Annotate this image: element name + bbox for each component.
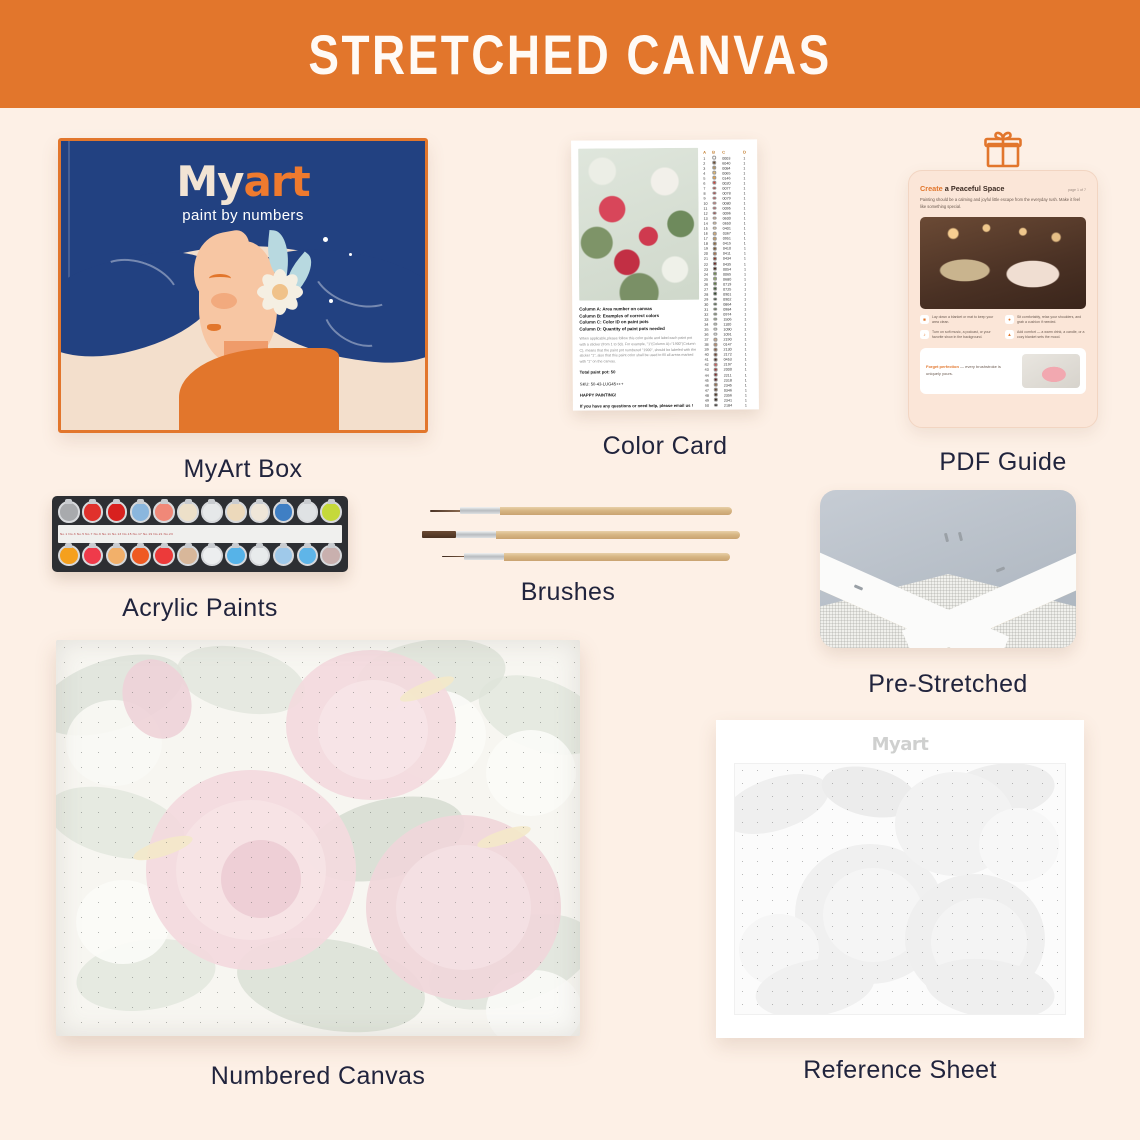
cell-color-id: 0410 bbox=[723, 247, 744, 251]
cell-quantity: 1 bbox=[743, 186, 751, 190]
cell-area-number: 12 bbox=[704, 212, 713, 216]
color-table-row: 3801471 bbox=[704, 342, 752, 347]
cell-area-number: 33 bbox=[704, 318, 713, 322]
cell-color-id: 0974 bbox=[723, 312, 744, 316]
cell-color-swatch bbox=[713, 277, 723, 282]
product-numbered-canvas[interactable]: Numbered Canvas bbox=[56, 640, 580, 1091]
color-card-table: A B C D 10003126040130084140065150146160… bbox=[703, 147, 753, 401]
pdf-page-label: page 1 of 7 bbox=[1068, 188, 1086, 192]
color-table-row: 1306001 bbox=[704, 216, 752, 221]
cell-quantity: 1 bbox=[743, 161, 751, 165]
cell-color-id: 0951 bbox=[723, 237, 744, 241]
cell-color-id: 0680 bbox=[723, 277, 744, 281]
pdf-footer-thumbnail bbox=[1022, 354, 1080, 388]
brush-handle bbox=[504, 553, 730, 561]
color-table-row: 3610911 bbox=[704, 332, 752, 337]
music-icon: ♪ bbox=[920, 330, 929, 339]
cell-color-swatch bbox=[712, 156, 722, 161]
cell-color-swatch bbox=[713, 267, 723, 272]
cell-color-id: 1100 bbox=[723, 323, 744, 327]
cell-color-id: 0435 bbox=[723, 262, 744, 266]
pdf-footer-callout: Forget perfection — every brushstroke is… bbox=[920, 348, 1086, 394]
color-table-row: 2400651 bbox=[704, 271, 752, 276]
cell-area-number: 13 bbox=[704, 217, 713, 221]
staple bbox=[958, 532, 963, 541]
cell-area-number: 7 bbox=[703, 186, 712, 190]
cell-quantity: 1 bbox=[745, 398, 753, 402]
cell-area-number: 2 bbox=[703, 161, 712, 165]
color-card-left-column: Column A: Area number on canvas Column B… bbox=[578, 148, 700, 403]
cell-area-number: 50 bbox=[705, 403, 714, 407]
paint-pot[interactable] bbox=[106, 545, 128, 567]
cell-area-number: 27 bbox=[704, 287, 713, 291]
cell-area-number: 1 bbox=[703, 156, 712, 160]
cell-area-number: 5 bbox=[703, 176, 712, 180]
paint-pot[interactable] bbox=[58, 545, 80, 567]
cell-color-swatch bbox=[713, 287, 723, 292]
color-table-row: 4823561 bbox=[705, 393, 753, 398]
cell-quantity: 1 bbox=[743, 156, 751, 160]
cell-area-number: 4 bbox=[703, 171, 712, 175]
cell-color-swatch bbox=[713, 322, 723, 327]
paint-pot[interactable] bbox=[82, 501, 104, 523]
paint-pot[interactable] bbox=[225, 501, 247, 523]
pdf-tip: ● Sit comfortably, relax your shoulders,… bbox=[1005, 315, 1086, 326]
broom-icon: ■ bbox=[920, 315, 929, 324]
cell-color-id: 0077 bbox=[722, 186, 743, 190]
pdf-footer-text: Forget perfection — every brushstroke is… bbox=[926, 364, 1016, 377]
cell-color-id: 2341 bbox=[724, 398, 745, 402]
cell-area-number: 8 bbox=[703, 192, 712, 196]
gift-icon bbox=[908, 128, 1098, 170]
cell-color-swatch bbox=[714, 393, 724, 398]
color-table-row: 5021841 bbox=[705, 403, 753, 408]
cell-color-id: 0346 bbox=[724, 388, 745, 392]
cell-quantity: 1 bbox=[744, 227, 752, 231]
cell-quantity: 1 bbox=[745, 353, 753, 357]
cell-color-id: 0080 bbox=[722, 201, 743, 205]
caption-color-card: Color Card bbox=[572, 432, 758, 461]
product-pre-stretched[interactable]: Pre-Stretched bbox=[820, 490, 1076, 699]
cell-color-swatch bbox=[713, 252, 723, 257]
cell-color-id: 0054 bbox=[723, 267, 744, 271]
cell-area-number: 19 bbox=[704, 247, 713, 251]
color-table-row: 4221971 bbox=[705, 362, 753, 367]
cell-quantity: 1 bbox=[743, 201, 751, 205]
cell-color-swatch bbox=[714, 378, 724, 383]
cell-color-id: 0096 bbox=[723, 211, 744, 215]
cell-area-number: 49 bbox=[705, 398, 714, 402]
cell-color-id: 0146 bbox=[722, 176, 743, 180]
cell-color-swatch bbox=[712, 186, 722, 191]
color-table-row: 1504011 bbox=[704, 226, 752, 231]
cell-quantity: 1 bbox=[745, 393, 753, 397]
canvas-number-markers bbox=[56, 640, 580, 1036]
cell-area-number: 18 bbox=[704, 242, 713, 246]
drink-icon: ▲ bbox=[1005, 330, 1014, 339]
cell-color-swatch bbox=[713, 343, 723, 348]
color-table-row: 2204351 bbox=[704, 261, 752, 266]
cell-color-swatch bbox=[713, 216, 723, 221]
product-myart-box[interactable]: Myart paint by numbers MyArt Box bbox=[58, 138, 428, 484]
cell-area-number: 38 bbox=[704, 343, 713, 347]
cell-color-swatch bbox=[714, 348, 724, 353]
cell-color-swatch bbox=[712, 176, 722, 181]
cell-color-swatch bbox=[714, 363, 724, 368]
brush-handle bbox=[496, 531, 740, 539]
cell-area-number: 39 bbox=[705, 348, 714, 352]
color-table-row: 3209741 bbox=[704, 312, 752, 317]
pdf-tip: ■ Lay down a blanket or mat to keep your… bbox=[920, 315, 1001, 326]
reference-sheet-artwork bbox=[734, 763, 1066, 1015]
cell-area-number: 37 bbox=[704, 338, 713, 342]
cell-color-id: 2000 bbox=[724, 368, 745, 372]
caption-numbered-canvas: Numbered Canvas bbox=[56, 1062, 580, 1091]
pdf-tip-text: Lay down a blanket or mat to keep your a… bbox=[932, 315, 1001, 326]
cell-quantity: 1 bbox=[744, 322, 752, 326]
pre-stretched-image bbox=[820, 490, 1076, 648]
color-table-row: 4703461 bbox=[705, 388, 753, 393]
cell-color-id: 6040 bbox=[722, 161, 743, 165]
cell-color-swatch bbox=[712, 166, 722, 171]
caption-pre-stretched: Pre-Stretched bbox=[820, 670, 1076, 699]
color-table-row: 4422111 bbox=[705, 372, 753, 377]
paint-pot[interactable] bbox=[130, 501, 152, 523]
color-table-row: 4923411 bbox=[705, 398, 753, 403]
th-a: A bbox=[703, 150, 712, 155]
cell-area-number: 26 bbox=[704, 282, 713, 286]
cell-color-id: 0864 bbox=[723, 302, 744, 306]
cell-area-number: 11 bbox=[704, 207, 713, 211]
cell-quantity: 1 bbox=[744, 277, 752, 281]
cell-quantity: 1 bbox=[745, 363, 753, 367]
cell-area-number: 44 bbox=[705, 373, 714, 377]
flat-brush bbox=[422, 530, 740, 539]
product-brushes[interactable]: Brushes bbox=[400, 500, 736, 607]
paint-pot[interactable] bbox=[130, 545, 152, 567]
reference-number-markers bbox=[735, 764, 1065, 1014]
cell-color-swatch bbox=[713, 297, 723, 302]
cell-color-id: 1506 bbox=[723, 317, 744, 321]
paint-pot[interactable] bbox=[249, 501, 271, 523]
product-reference-sheet[interactable]: Myart Reference Sheet bbox=[716, 720, 1084, 1085]
cell-color-id: 2356 bbox=[724, 393, 745, 397]
paint-pot[interactable] bbox=[177, 545, 199, 567]
cell-color-swatch bbox=[713, 237, 723, 242]
pdf-footer-accent: Forget perfection bbox=[926, 364, 959, 369]
cell-color-swatch bbox=[713, 337, 723, 342]
cell-color-id: 0411 bbox=[723, 252, 744, 256]
staple bbox=[996, 566, 1005, 572]
brushes-image bbox=[400, 500, 736, 568]
product-pdf-guide[interactable]: Create a Peaceful Space page 1 of 7 Pain… bbox=[908, 128, 1098, 477]
cell-color-swatch bbox=[712, 181, 722, 186]
color-table-row: 2104341 bbox=[704, 256, 752, 261]
brush-ferrule bbox=[464, 553, 504, 560]
color-table-row: 2004111 bbox=[704, 251, 752, 256]
paint-pot[interactable] bbox=[297, 545, 319, 567]
cell-quantity: 1 bbox=[743, 181, 751, 185]
color-table-row: 2300541 bbox=[704, 266, 752, 271]
color-table-row: 4623451 bbox=[705, 382, 753, 387]
cell-quantity: 1 bbox=[744, 282, 752, 286]
cell-area-number: 21 bbox=[704, 257, 713, 261]
cell-area-number: 34 bbox=[704, 323, 713, 327]
cell-area-number: 24 bbox=[704, 272, 713, 276]
paint-pot[interactable] bbox=[249, 545, 271, 567]
color-table-row: 2909021 bbox=[704, 297, 752, 302]
cell-color-swatch bbox=[713, 317, 723, 322]
paint-pot[interactable] bbox=[58, 501, 80, 523]
cell-area-number: 31 bbox=[704, 308, 713, 312]
cell-color-swatch bbox=[713, 226, 723, 231]
cell-color-id: 2172 bbox=[724, 353, 745, 357]
cell-color-swatch bbox=[714, 403, 724, 408]
paint-pot[interactable] bbox=[320, 545, 342, 567]
cell-color-swatch bbox=[713, 262, 723, 267]
cell-color-id: 2197 bbox=[724, 363, 745, 367]
cell-quantity: 1 bbox=[744, 328, 752, 332]
cell-color-swatch bbox=[713, 247, 723, 252]
product-color-card[interactable]: Column A: Area number on canvas Column B… bbox=[572, 140, 758, 461]
cell-quantity: 1 bbox=[744, 302, 752, 306]
color-table-row: 1904101 bbox=[704, 246, 752, 251]
color-table-row: 3921301 bbox=[705, 347, 753, 352]
cell-quantity: 1 bbox=[744, 338, 752, 342]
cell-quantity: 1 bbox=[744, 287, 752, 291]
cell-quantity: 1 bbox=[744, 307, 752, 311]
cell-color-swatch bbox=[713, 312, 723, 317]
paint-pot[interactable] bbox=[273, 545, 295, 567]
brush-handle bbox=[500, 507, 732, 515]
logo-art-text: art bbox=[244, 157, 310, 206]
cell-color-swatch bbox=[714, 358, 724, 363]
cell-quantity: 1 bbox=[744, 317, 752, 321]
product-acrylic-paints[interactable]: No.1 No.3 No.5 No.7 No.9 No.11 No.13 No.… bbox=[52, 496, 348, 623]
pdf-tip-text: Turn on soft music, a podcast, or your f… bbox=[932, 330, 1001, 341]
brush-tip bbox=[442, 556, 464, 558]
cell-area-number: 14 bbox=[704, 222, 713, 226]
color-card-contact: If you have any questions or need help, … bbox=[580, 403, 700, 410]
cell-quantity: 1 bbox=[744, 333, 752, 337]
cell-quantity: 1 bbox=[744, 257, 752, 261]
pdf-tip: ▲ Add comfort — a warm drink, a candle, … bbox=[1005, 330, 1086, 341]
cell-color-swatch bbox=[714, 383, 724, 388]
pdf-tip: ♪ Turn on soft music, a podcast, or your… bbox=[920, 330, 1001, 341]
myart-logo: Myart paint by numbers bbox=[61, 157, 425, 224]
cell-color-id: 0719 bbox=[723, 282, 744, 286]
cell-color-id: 0147 bbox=[723, 343, 744, 347]
color-table-row: 1603671 bbox=[704, 231, 752, 236]
eyebrow bbox=[209, 274, 231, 283]
cell-color-id: 0020 bbox=[722, 181, 743, 185]
cell-area-number: 43 bbox=[705, 368, 714, 372]
paint-pot[interactable] bbox=[225, 545, 247, 567]
cell-quantity: 1 bbox=[744, 272, 752, 276]
page-header: STRETCHED CANVAS bbox=[0, 0, 1140, 108]
cell-color-swatch bbox=[714, 398, 724, 403]
round-liner-brush bbox=[430, 506, 732, 515]
cell-quantity: 1 bbox=[744, 211, 752, 215]
reference-sheet-logo: Myart bbox=[734, 734, 1066, 755]
cell-color-id: 0901 bbox=[723, 292, 744, 296]
cell-quantity: 1 bbox=[744, 292, 752, 296]
cell-quantity: 1 bbox=[743, 191, 751, 195]
paint-pot[interactable] bbox=[153, 501, 175, 523]
cell-area-number: 3 bbox=[703, 166, 712, 170]
paint-pot[interactable] bbox=[177, 501, 199, 523]
fine-detail-brush bbox=[442, 552, 730, 561]
cell-color-id: 1090 bbox=[723, 328, 744, 332]
paint-pot[interactable] bbox=[273, 501, 295, 523]
cell-quantity: 1 bbox=[745, 383, 753, 387]
hibiscus-reference-photo bbox=[578, 148, 699, 301]
reference-sheet-image: Myart bbox=[716, 720, 1084, 1038]
cell-color-id: 2184 bbox=[724, 403, 745, 407]
cell-color-id: 0401 bbox=[723, 227, 744, 231]
caption-myart-box: MyArt Box bbox=[58, 455, 428, 484]
legend-line-d: Column D: Quantity of paint pots needed bbox=[579, 326, 699, 333]
cell-quantity: 1 bbox=[744, 237, 752, 241]
cell-area-number: 36 bbox=[704, 333, 713, 337]
color-card-total: Total paint pot: 50 bbox=[580, 369, 700, 376]
cell-area-number: 48 bbox=[705, 393, 714, 397]
paint-label-strip: No.1 No.3 No.5 No.7 No.9 No.11 No.13 No.… bbox=[58, 525, 342, 543]
cell-color-id: 0600 bbox=[723, 217, 744, 221]
cell-color-swatch bbox=[713, 272, 723, 277]
cell-color-id: 0434 bbox=[723, 257, 744, 261]
cell-area-number: 42 bbox=[705, 363, 714, 367]
cell-color-id: 0065 bbox=[723, 272, 744, 276]
pdf-tips-list: ■ Lay down a blanket or mat to keep your… bbox=[920, 315, 1086, 341]
paint-pot[interactable] bbox=[320, 501, 342, 523]
myart-box-image: Myart paint by numbers bbox=[58, 138, 428, 433]
cell-quantity: 1 bbox=[744, 247, 752, 251]
cell-color-id: 0095 bbox=[723, 206, 744, 210]
cell-color-id: 0367 bbox=[723, 232, 744, 236]
pdf-tip-text: Sit comfortably, relax your shoulders, a… bbox=[1017, 315, 1086, 326]
th-d: D bbox=[743, 149, 751, 154]
pdf-title-row: Create a Peaceful Space page 1 of 7 bbox=[920, 184, 1086, 193]
cell-area-number: 15 bbox=[704, 227, 713, 231]
cell-area-number: 10 bbox=[703, 202, 712, 206]
cell-quantity: 1 bbox=[744, 222, 752, 226]
pdf-title: Create a Peaceful Space bbox=[920, 184, 1004, 193]
color-table-row: 1709511 bbox=[704, 236, 752, 241]
cell-color-swatch bbox=[714, 373, 724, 378]
cell-color-id: 0453 bbox=[724, 358, 745, 362]
cell-color-swatch bbox=[714, 388, 724, 393]
cell-quantity: 1 bbox=[744, 206, 752, 210]
cell-area-number: 41 bbox=[705, 358, 714, 362]
color-table-row: 2809011 bbox=[704, 292, 752, 297]
cell-color-swatch bbox=[712, 201, 722, 206]
cell-area-number: 35 bbox=[704, 328, 713, 332]
color-table-row: 1406501 bbox=[704, 221, 752, 226]
cell-color-swatch bbox=[713, 282, 723, 287]
cell-color-id: 2190 bbox=[723, 338, 744, 342]
logo-my-text: My bbox=[176, 157, 243, 206]
cell-area-number: 6 bbox=[703, 181, 712, 185]
cell-color-id: 0984 bbox=[723, 307, 744, 311]
paint-pot[interactable] bbox=[82, 545, 104, 567]
cell-area-number: 45 bbox=[705, 378, 714, 382]
cell-color-swatch bbox=[713, 206, 723, 211]
cell-area-number: 16 bbox=[704, 232, 713, 236]
cell-color-id: 0415 bbox=[723, 242, 744, 246]
cell-area-number: 20 bbox=[704, 252, 713, 256]
cell-color-swatch bbox=[714, 368, 724, 373]
color-card-note: When applicable,please follow this color… bbox=[579, 336, 699, 365]
logo-tagline: paint by numbers bbox=[61, 207, 425, 224]
cell-quantity: 1 bbox=[745, 403, 753, 407]
cell-quantity: 1 bbox=[745, 358, 753, 362]
cheek-blush bbox=[211, 293, 237, 309]
cell-color-swatch bbox=[713, 332, 723, 337]
cell-area-number: 30 bbox=[704, 303, 713, 307]
cell-color-id: 2318 bbox=[724, 378, 745, 382]
paint-pot[interactable] bbox=[201, 545, 223, 567]
cell-area-number: 25 bbox=[704, 277, 713, 281]
sparkle-dot-2 bbox=[349, 253, 352, 256]
sparkle-dot-1 bbox=[323, 237, 328, 242]
cell-color-swatch bbox=[713, 232, 723, 237]
cell-color-swatch bbox=[713, 302, 723, 307]
cell-color-id: 2130 bbox=[724, 348, 745, 352]
color-table-row: 3008641 bbox=[704, 302, 752, 307]
cell-color-swatch bbox=[712, 171, 722, 176]
chair-icon: ● bbox=[1005, 315, 1014, 324]
cell-color-swatch bbox=[712, 196, 722, 201]
cell-quantity: 1 bbox=[744, 252, 752, 256]
daisy-flower-icon bbox=[257, 269, 303, 315]
cell-area-number: 22 bbox=[704, 262, 713, 266]
paint-pot[interactable] bbox=[201, 501, 223, 523]
cell-color-swatch bbox=[712, 161, 722, 166]
cell-color-id: 0084 bbox=[722, 166, 743, 170]
color-table-row: 3315061 bbox=[704, 317, 752, 322]
paint-pot[interactable] bbox=[106, 501, 128, 523]
brush-ferrule bbox=[456, 531, 496, 538]
color-table-row: 4021721 bbox=[705, 352, 753, 357]
brush-tip bbox=[422, 531, 456, 538]
caption-brushes: Brushes bbox=[400, 578, 736, 607]
color-table-row: 3411001 bbox=[704, 322, 752, 327]
color-table-row: 2607191 bbox=[704, 282, 752, 287]
cell-quantity: 1 bbox=[743, 176, 751, 180]
cell-quantity: 1 bbox=[743, 166, 751, 170]
cell-color-id: 2211 bbox=[724, 373, 745, 377]
cell-area-number: 47 bbox=[705, 388, 714, 392]
cell-area-number: 17 bbox=[704, 237, 713, 241]
brush-tip bbox=[430, 510, 460, 512]
color-table-row: 3109841 bbox=[704, 307, 752, 312]
cell-area-number: 32 bbox=[704, 313, 713, 317]
caption-pdf-guide: PDF Guide bbox=[908, 448, 1098, 477]
pdf-photo-woman-painting bbox=[920, 217, 1086, 309]
pdf-guide-page: Create a Peaceful Space page 1 of 7 Pain… bbox=[908, 170, 1098, 428]
cell-quantity: 1 bbox=[744, 262, 752, 266]
cell-quantity: 1 bbox=[745, 373, 753, 377]
paint-label-text: No.1 No.3 No.5 No.7 No.9 No.11 No.13 No.… bbox=[60, 532, 173, 536]
paint-pot-row-top bbox=[58, 501, 342, 523]
paint-pot[interactable] bbox=[153, 545, 175, 567]
paint-pot-row-bottom bbox=[58, 545, 342, 567]
cell-quantity: 1 bbox=[745, 348, 753, 352]
cell-color-swatch bbox=[713, 292, 723, 297]
paint-pot[interactable] bbox=[297, 501, 319, 523]
cell-quantity: 1 bbox=[744, 216, 752, 220]
